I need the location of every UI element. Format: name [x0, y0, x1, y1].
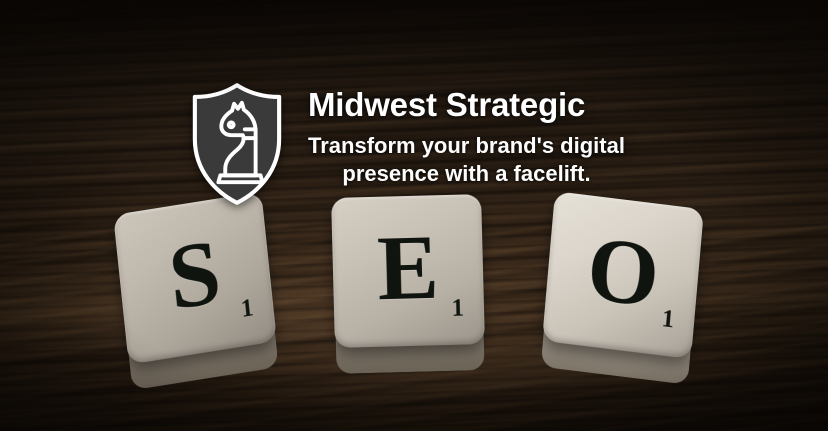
tile-point-value: 1 — [451, 296, 464, 321]
scrabble-tiles-group: S 1 E 1 O 1 — [0, 0, 828, 431]
tile-letter: O — [545, 216, 702, 326]
tile-top-face: E 1 — [331, 194, 485, 348]
brand-tagline: Transform your brand's digital presence … — [308, 132, 625, 187]
brand-text-group: Midwest Strategic Transform your brand's… — [308, 82, 625, 187]
page-title: Midwest Strategic — [308, 88, 625, 122]
seo-marketing-banner: S 1 E 1 O 1 — [0, 0, 828, 431]
brand-header: Midwest Strategic Transform your brand's… — [188, 82, 625, 206]
scrabble-tile-o: O 1 — [542, 191, 704, 359]
tile-point-value: 1 — [661, 306, 676, 332]
knight-chess-shield-icon — [188, 82, 286, 206]
scrabble-tile-e: E 1 — [331, 194, 485, 348]
scrabble-tile-s: S 1 — [113, 192, 277, 365]
tile-top-face: O 1 — [542, 191, 704, 359]
tile-point-value: 1 — [240, 295, 255, 322]
tile-top-face: S 1 — [113, 192, 277, 365]
